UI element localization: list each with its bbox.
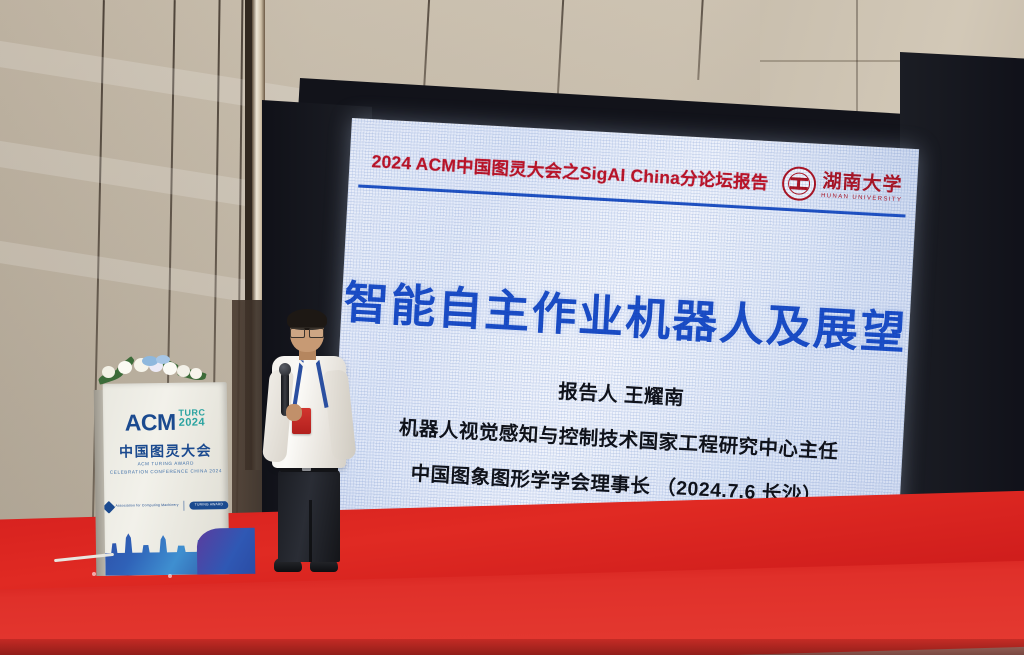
hunan-university-logo: 湖南大学 HUNAN UNIVERSITY (781, 166, 904, 207)
acm-association-logo: Association for Computing Machinery (104, 501, 178, 511)
hunan-university-seal-icon (781, 166, 817, 202)
acm-diamond-icon (103, 500, 116, 513)
podium-conference-name-en-line1: ACM TURING AWARD (104, 460, 228, 467)
speaker-trousers (278, 470, 340, 562)
conference-stage-scene: 2024 ACM中国图灵大会之SigAI China分论坛报告 湖南大学 HUN… (0, 0, 1024, 655)
turing-award-logo: TURING AWARD (190, 501, 229, 509)
slide-main-title: 智能自主作业机器人及展望 (340, 266, 911, 362)
university-name-cn: 湖南大学 (822, 171, 903, 194)
acm-association-label: Association for Computing Machinery (115, 504, 178, 509)
podium-flower-arrangement (96, 356, 214, 390)
floor-marker-dot (92, 572, 96, 576)
podium-conference-name-cn: 中国图灵大会 (103, 440, 227, 462)
turing-award-label: TURING AWARD (190, 501, 229, 509)
slide-header: 2024 ACM中国图灵大会之SigAI China分论坛报告 湖南大学 HUN… (348, 132, 918, 217)
podium-sponsor-logos: Association for Computing Machinery TURI… (104, 500, 228, 512)
stage-floor-shadow (0, 639, 1024, 655)
speaker-hand (286, 404, 302, 421)
conference-podium: ACM TURC 2024 中国图灵大会 ACM TURING AWARD CE… (103, 382, 230, 576)
floor-marker-dot (168, 574, 172, 578)
speaker-glasses-icon (290, 327, 324, 335)
acm-wordmark: ACM (125, 409, 176, 437)
podium-swoosh-graphic (197, 528, 256, 575)
podium-acm-lockup: ACM TURC 2024 (103, 408, 227, 437)
podium-conference-name-en-line2: CELEBRATION CONFERENCE CHINA 2024 (104, 468, 228, 475)
logo-separator (184, 501, 185, 511)
turc-year: 2024 (179, 418, 206, 430)
speaker-presenter (252, 312, 364, 580)
